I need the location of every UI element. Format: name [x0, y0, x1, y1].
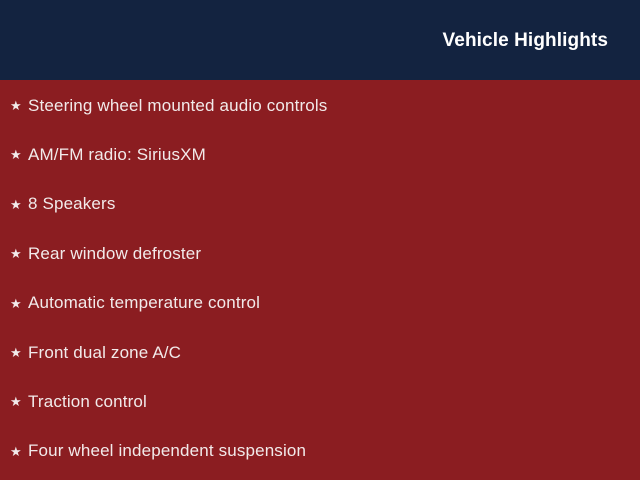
star-bullet-icon: ★: [10, 346, 28, 359]
star-bullet-icon: ★: [10, 148, 28, 161]
header-band: Vehicle Highlights: [0, 0, 640, 80]
highlight-item-label: 8 Speakers: [28, 195, 116, 214]
highlight-item-label: AM/FM radio: SiriusXM: [28, 146, 206, 165]
highlight-item-label: Front dual zone A/C: [28, 344, 181, 363]
star-bullet-icon: ★: [10, 395, 28, 408]
highlight-item-label: Automatic temperature control: [28, 294, 260, 313]
highlight-item: ★Four wheel independent suspension: [10, 439, 306, 465]
highlight-item: ★AM/FM radio: SiriusXM: [10, 142, 206, 168]
highlights-panel: ★Steering wheel mounted audio controls★A…: [0, 80, 640, 480]
highlight-item: ★Rear window defroster: [10, 241, 201, 267]
highlight-item: ★8 Speakers: [10, 192, 116, 218]
highlight-item: ★Front dual zone A/C: [10, 340, 181, 366]
highlight-item-label: Rear window defroster: [28, 245, 201, 264]
highlight-item-label: Traction control: [28, 393, 147, 412]
highlight-item-label: Steering wheel mounted audio controls: [28, 97, 327, 116]
vehicle-highlights-slide: Vehicle Highlights ★Steering wheel mount…: [0, 0, 640, 480]
star-bullet-icon: ★: [10, 445, 28, 458]
star-bullet-icon: ★: [10, 99, 28, 112]
highlight-item: ★Steering wheel mounted audio controls: [10, 93, 327, 119]
star-bullet-icon: ★: [10, 198, 28, 211]
highlight-item: ★Automatic temperature control: [10, 291, 260, 317]
star-bullet-icon: ★: [10, 297, 28, 310]
highlight-item: ★Traction control: [10, 389, 147, 415]
highlight-item-label: Four wheel independent suspension: [28, 442, 306, 461]
star-bullet-icon: ★: [10, 247, 28, 260]
page-title: Vehicle Highlights: [443, 31, 640, 50]
